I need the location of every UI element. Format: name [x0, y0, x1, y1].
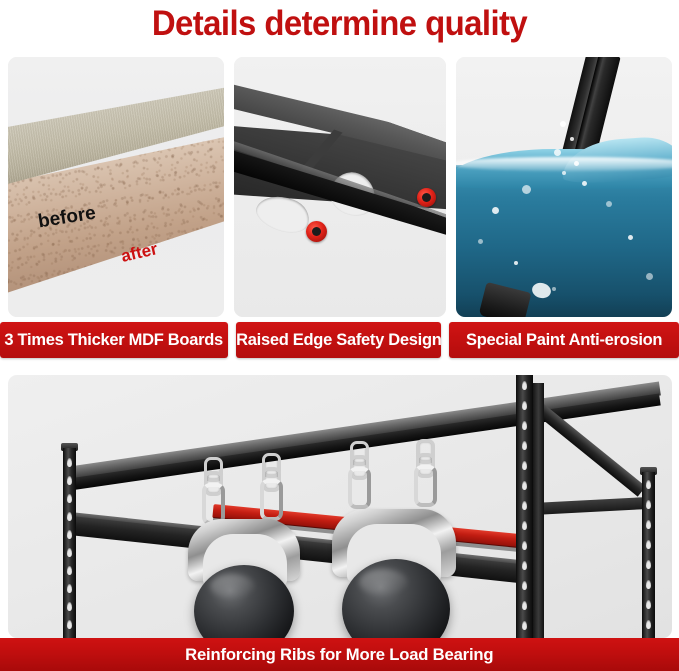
upright-slot [67, 512, 72, 521]
upright-slot [522, 381, 527, 390]
upright-slot [67, 458, 72, 467]
water-immersion-illustration [456, 57, 672, 317]
upright-slot [522, 581, 527, 590]
bubble-icon [646, 273, 653, 280]
upright-slot [646, 540, 651, 549]
upright-slot [646, 580, 651, 589]
upright-slot [646, 600, 651, 609]
rack-right-crossbeam [533, 497, 651, 515]
upright-slot [646, 520, 651, 529]
caption-reinforcing-ribs: Reinforcing Ribs for More Load Bearing [0, 638, 679, 671]
mdf-board-illustration: before after [8, 57, 224, 317]
upright-slot [522, 621, 527, 630]
rack-upright-middle-back [533, 383, 544, 638]
upright-slot [67, 620, 72, 629]
bubble-icon [570, 137, 574, 141]
bubble-icon [574, 161, 579, 166]
bubble-icon [514, 261, 518, 265]
upright-slot [646, 500, 651, 509]
infographic-page: Details determine quality before after [0, 0, 679, 671]
upright-slot [522, 481, 527, 490]
panel-reinforcing-ribs [8, 375, 672, 638]
bubble-icon [582, 181, 587, 186]
upright-slot [522, 561, 527, 570]
bubble-icon [628, 235, 633, 240]
upright-slot [67, 494, 72, 503]
carabiner-icon [348, 467, 371, 509]
upright-slot [67, 584, 72, 593]
panel-mdf-boards: before after [8, 57, 224, 317]
upright-slot [646, 560, 651, 569]
caption-mdf-boards: 3 Times Thicker MDF Boards [0, 322, 228, 358]
bubble-icon [522, 185, 531, 194]
water-foam [456, 157, 672, 171]
caption-text: 3 Times Thicker MDF Boards [5, 330, 223, 350]
upright-slot [522, 441, 527, 450]
upright-slot [522, 401, 527, 410]
upright-slot [522, 461, 527, 470]
upright-slot [522, 421, 527, 430]
page-title: Details determine quality [20, 2, 658, 46]
upright-slot [646, 620, 651, 629]
red-rivet-icon [417, 188, 436, 207]
upright-slot [67, 566, 72, 575]
red-rivet-icon [306, 221, 327, 242]
caption-raised-edge: Raised Edge Safety Design [236, 322, 441, 358]
rack-illustration [8, 375, 672, 638]
caption-text: Raised Edge Safety Design [236, 330, 441, 350]
rack-upright-left [63, 448, 76, 638]
upright-slot [67, 476, 72, 485]
bubble-icon [560, 121, 566, 127]
bubble-icon [562, 171, 566, 175]
carabiner-icon [414, 465, 437, 507]
bubble-icon [478, 239, 483, 244]
upright-slot [522, 601, 527, 610]
slot-group [63, 448, 76, 638]
upright-slot [67, 602, 72, 611]
rack-upright-middle [516, 375, 533, 638]
upright-slot [522, 521, 527, 530]
panel-raised-edge [234, 57, 446, 317]
slot-group [516, 375, 533, 638]
panel-anti-erosion [456, 57, 672, 317]
bubble-icon [606, 201, 612, 207]
upright-slot [67, 530, 72, 539]
caption-text: Reinforcing Ribs for More Load Bearing [185, 645, 493, 665]
rack-upright-right [642, 472, 655, 638]
bubble-icon [552, 287, 556, 291]
upright-slot [67, 548, 72, 557]
upright-slot [522, 541, 527, 550]
bubble-icon [554, 149, 561, 156]
caption-anti-erosion: Special Paint Anti-erosion [449, 322, 679, 358]
slot-group [642, 472, 655, 638]
upright-slot [646, 480, 651, 489]
upright-slot [522, 501, 527, 510]
raised-edge-beam-illustration [234, 57, 446, 317]
carabiner-icon [260, 479, 283, 521]
bubble-icon [492, 207, 499, 214]
caption-text: Special Paint Anti-erosion [466, 330, 662, 350]
